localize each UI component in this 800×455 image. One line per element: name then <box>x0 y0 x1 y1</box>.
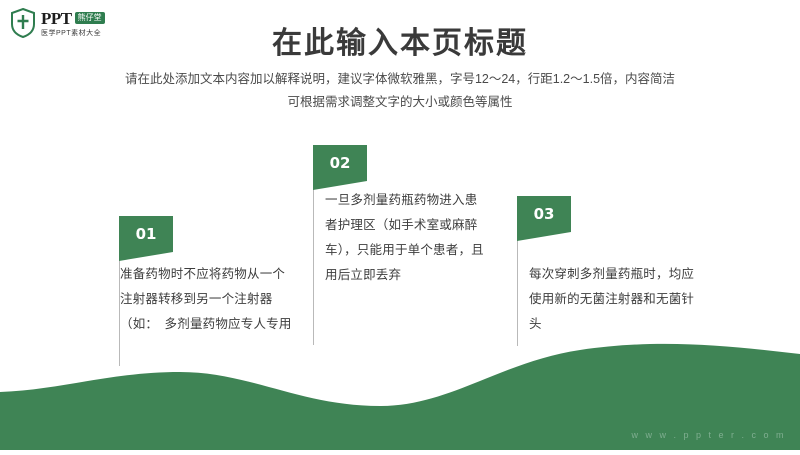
page-subtitle: 请在此处添加文本内容加以解释说明，建议字体微软雅黑，字号12～24，行距1.2～… <box>0 68 800 114</box>
column-number-1: 01 <box>136 225 157 243</box>
subtitle-line-1: 请在此处添加文本内容加以解释说明，建议字体微软雅黑，字号12～24，行距1.2～… <box>0 68 800 91</box>
subtitle-line-2: 可根据需求调整文字的大小或颜色等属性 <box>0 91 800 114</box>
column-number-3: 03 <box>534 205 555 223</box>
page-title: 在此输入本页标题 <box>0 18 800 62</box>
column-number-2: 02 <box>330 154 351 172</box>
column-number-badge-1: 01 <box>119 216 173 252</box>
column-number-badge-2: 02 <box>313 145 367 181</box>
site-watermark: w w w . p p t e r . c o m <box>631 430 786 440</box>
column-number-badge-3: 03 <box>517 196 571 232</box>
column-text-2: 一旦多剂量药瓶药物进入患者护理区（如手术室或麻醉车），只能用于单个患者，且用后立… <box>325 188 490 288</box>
